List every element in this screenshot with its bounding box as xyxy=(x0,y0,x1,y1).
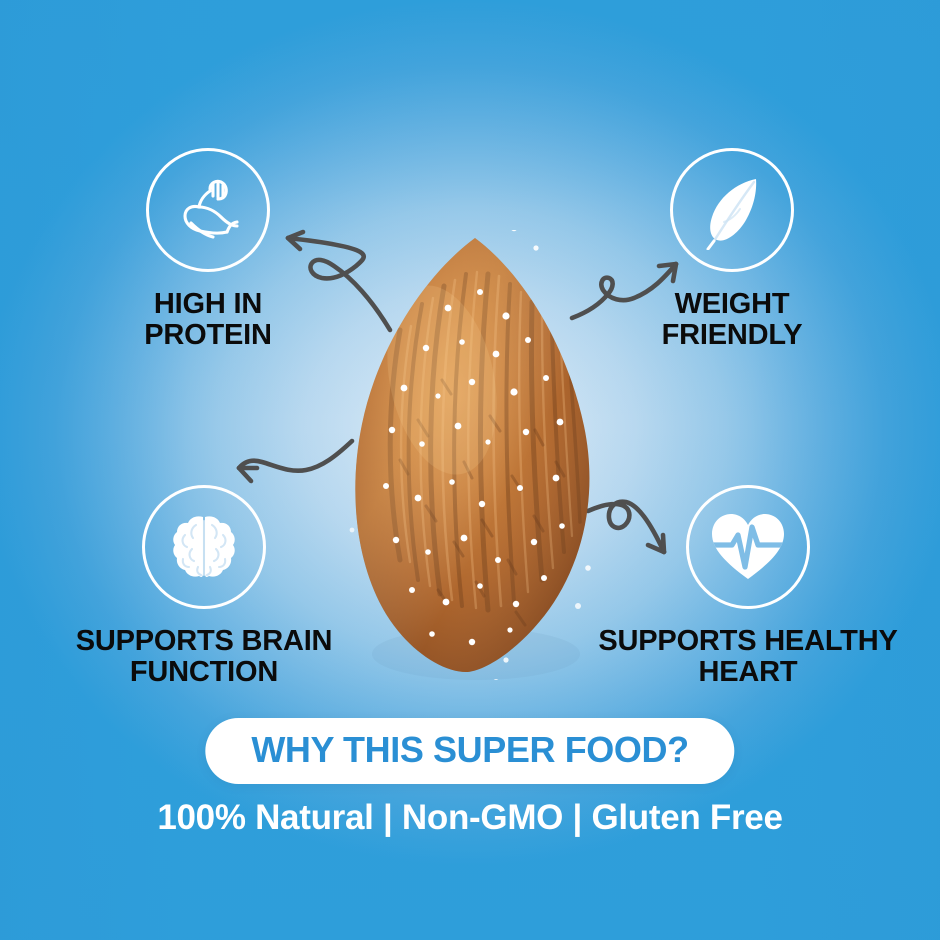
heart-pulse-icon xyxy=(708,509,788,585)
tagline-text: 100% Natural | Non-GMO | Gluten Free xyxy=(0,798,940,838)
brain-icon xyxy=(166,509,242,585)
feature-label-heart: SUPPORTS HEALTHY HEART xyxy=(598,626,897,689)
icon-circle-heart xyxy=(686,485,810,609)
feature-label-weight: WEIGHT FRIENDLY xyxy=(662,289,803,352)
leaf-icon xyxy=(692,170,772,250)
feature-label-protein: HIGH IN PROTEIN xyxy=(144,289,272,352)
icon-circle-protein xyxy=(146,148,270,272)
headline-text: WHY THIS SUPER FOOD? xyxy=(251,732,688,768)
flexing-bicep-icon xyxy=(169,171,247,249)
almond-image xyxy=(330,230,620,680)
icon-circle-brain xyxy=(142,485,266,609)
icon-circle-weight xyxy=(670,148,794,272)
infographic-poster: HIGH IN PROTEIN WEIGHT FRIENDLY xyxy=(0,0,940,940)
feature-high-in-protein: HIGH IN PROTEIN xyxy=(78,148,338,352)
feature-label-brain: SUPPORTS BRAIN FUNCTION xyxy=(76,626,333,689)
feature-weight-friendly: WEIGHT FRIENDLY xyxy=(602,148,862,352)
feature-supports-healthy-heart: SUPPORTS HEALTHY HEART xyxy=(598,485,898,689)
feature-supports-brain-function: SUPPORTS BRAIN FUNCTION xyxy=(60,485,348,689)
headline-pill: WHY THIS SUPER FOOD? xyxy=(205,718,734,784)
